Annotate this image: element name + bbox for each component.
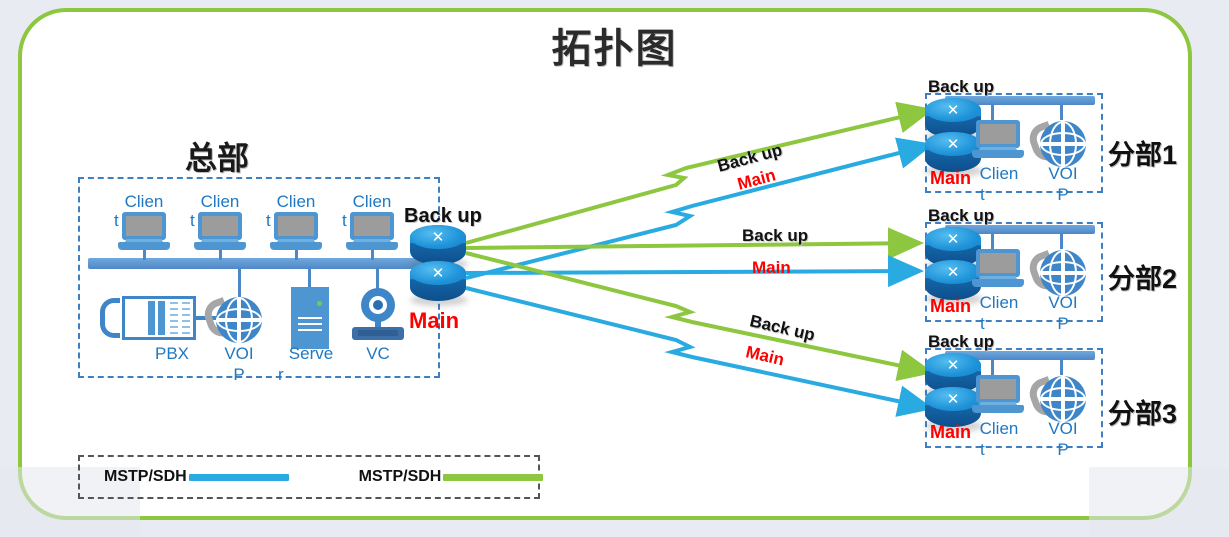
- pbx-label: PBX: [142, 345, 202, 362]
- page-title: 拓扑图: [0, 16, 1229, 74]
- hq-router-backup[interactable]: ✕: [410, 225, 466, 265]
- router-arrows-icon: ✕: [937, 390, 969, 408]
- laptop-base: [194, 242, 246, 250]
- branch2-client-label-cont: t: [980, 315, 1002, 332]
- voip-label-cont: P: [208, 366, 270, 383]
- legend-label-2: MSTP/SDH: [359, 468, 442, 486]
- branch3-client-laptop: [972, 375, 1024, 417]
- router-arrows-icon: ✕: [937, 230, 969, 248]
- hq-client-label-2-cont: t: [190, 212, 212, 229]
- branch1-client-label: Clien: [970, 165, 1028, 182]
- hq-client-label-2: Clien: [190, 193, 250, 210]
- pbx-handset: [100, 298, 120, 338]
- globe-equator: [1040, 387, 1086, 411]
- globe-equator: [216, 308, 262, 332]
- laptop-base: [270, 242, 322, 250]
- router-arrows-icon: ✕: [937, 356, 969, 374]
- branch2-backup-tag: Back up: [928, 206, 994, 226]
- legend: MSTP/SDH MSTP/SDH: [78, 455, 540, 499]
- pbx-slot: [148, 301, 155, 335]
- link-label-branch2-backup: Back up: [742, 226, 808, 246]
- branch3-voip-label: VOI: [1034, 420, 1092, 437]
- laptop-base: [972, 405, 1024, 413]
- branch1-main-tag: Main: [930, 168, 971, 189]
- hq-client-label-1: Clien: [114, 193, 174, 210]
- branch1-drop-voip: [1060, 104, 1063, 120]
- hq-client-label-4: Clien: [342, 193, 402, 210]
- branch2-voip-label: VOI: [1034, 294, 1092, 311]
- branch1-drop-client: [991, 104, 994, 120]
- hq-client-label-4-cont: t: [342, 212, 364, 229]
- legend-swatch-blue: [189, 474, 289, 481]
- router-arrows-icon: ✕: [422, 228, 454, 246]
- router-arrows-icon: ✕: [937, 263, 969, 281]
- branch3-voip-label-cont: P: [1034, 441, 1092, 458]
- legend-item-mstp-blue: MSTP/SDH: [104, 468, 289, 486]
- globe-equator: [1040, 261, 1086, 285]
- laptop-base: [972, 279, 1024, 287]
- laptop-screen: [976, 120, 1020, 148]
- server-vent: [298, 329, 322, 331]
- server-vent: [298, 323, 322, 325]
- branch1-voip-label-cont: P: [1034, 186, 1092, 203]
- branch2-drop-voip: [1060, 233, 1063, 249]
- hq-router-main[interactable]: ✕: [410, 261, 466, 301]
- branch2-name: 分部2: [1108, 257, 1177, 296]
- branch3-drop-voip: [1060, 359, 1063, 375]
- hq-client-label-3-cont: t: [266, 212, 288, 229]
- branch1-backup-tag: Back up: [928, 77, 994, 97]
- router-arrows-icon: ✕: [937, 135, 969, 153]
- laptop-screen: [976, 375, 1020, 403]
- camera-stand-top: [358, 330, 398, 336]
- server-label: Serve: [278, 345, 344, 362]
- server-icon: [291, 287, 329, 349]
- hq-drop-server: [308, 267, 311, 289]
- link-label-branch2-main: Main: [752, 258, 791, 278]
- branch3-drop-client: [991, 359, 994, 375]
- hq-drop-client-3: [295, 250, 298, 260]
- hq-drop-voip: [238, 267, 241, 301]
- branch2-drop-client: [991, 233, 994, 249]
- pbx-ports: [170, 302, 178, 334]
- legend-item-mstp-green: MSTP/SDH: [359, 468, 544, 486]
- branch3-client-label: Clien: [970, 420, 1028, 437]
- branch3-name: 分部3: [1108, 392, 1177, 431]
- branch2-voip-globe-icon: [1040, 250, 1086, 296]
- hq-heading: 总部: [185, 133, 249, 179]
- branch3-main-tag: Main: [930, 422, 971, 443]
- laptop-base: [118, 242, 170, 250]
- branch3-voip-globe-icon: [1040, 376, 1086, 422]
- topology-diagram: 拓扑图 总部: [0, 0, 1229, 537]
- branch1-voip-globe-icon: [1040, 121, 1086, 167]
- router-arrows-icon: ✕: [937, 101, 969, 119]
- branch2-client-laptop: [972, 249, 1024, 291]
- pbx-icon: [100, 296, 196, 342]
- hq-drop-client-4: [371, 250, 374, 260]
- hq-drop-client-1: [143, 250, 146, 260]
- branch1-client-label-cont: t: [980, 186, 1002, 203]
- camera-lens: [369, 296, 387, 314]
- legend-swatch-green: [443, 474, 543, 481]
- branch3-client-label-cont: t: [980, 441, 1002, 458]
- hq-main-tag: Main: [409, 308, 459, 334]
- legend-label-1: MSTP/SDH: [104, 468, 187, 486]
- hq-client-label-1-cont: t: [114, 212, 136, 229]
- branch1-client-laptop: [972, 120, 1024, 162]
- globe-equator: [1040, 132, 1086, 156]
- branch1-name: 分部1: [1108, 133, 1177, 172]
- laptop-base: [972, 150, 1024, 158]
- pbx-slot: [158, 301, 165, 335]
- server-led: [317, 301, 322, 306]
- router-arrows-icon: ✕: [422, 264, 454, 282]
- pbx-ports: [182, 302, 190, 334]
- voip-label: VOI: [208, 345, 270, 362]
- vc-camera-icon: [352, 288, 404, 346]
- server-vent: [298, 317, 322, 319]
- hq-client-label-3: Clien: [266, 193, 326, 210]
- branch1-voip-label: VOI: [1034, 165, 1092, 182]
- voip-globe-icon: [216, 297, 262, 343]
- vc-label: VC: [350, 345, 406, 362]
- branch2-client-label: Clien: [970, 294, 1028, 311]
- branch2-voip-label-cont: P: [1034, 315, 1092, 332]
- laptop-base: [346, 242, 398, 250]
- branch2-main-tag: Main: [930, 296, 971, 317]
- branch3-backup-tag: Back up: [928, 332, 994, 352]
- server-label-cont: r: [278, 366, 300, 383]
- hq-drop-client-2: [219, 250, 222, 260]
- laptop-screen: [976, 249, 1020, 277]
